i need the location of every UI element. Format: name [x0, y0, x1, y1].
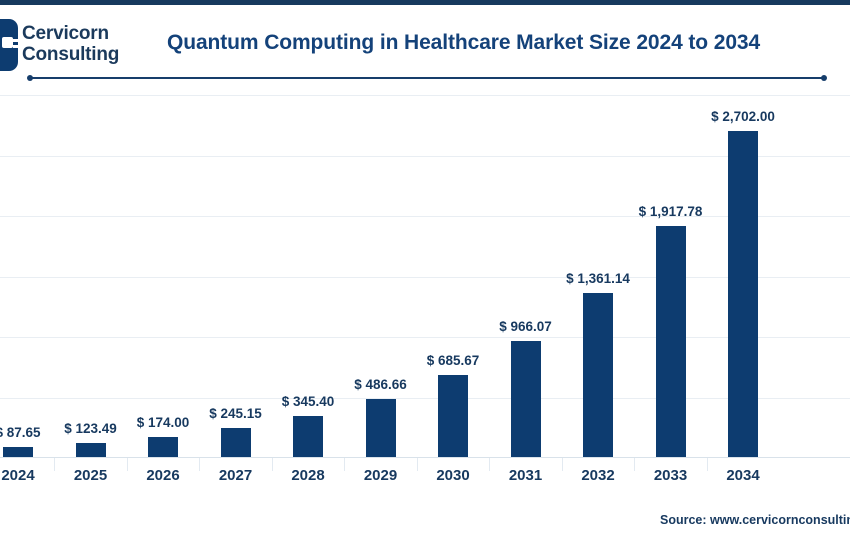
bar-2025[interactable]: [76, 443, 106, 458]
x-axis-label-2029: 2029: [364, 467, 397, 484]
x-axis-label-2026: 2026: [146, 467, 179, 484]
bar-value-label-2025: $ 123.49: [64, 421, 117, 436]
bar-2033[interactable]: [656, 226, 686, 458]
bar-value-label-2027: $ 245.15: [209, 406, 262, 421]
x-axis-tick-separator: [562, 458, 563, 471]
bar-2029[interactable]: [366, 399, 396, 458]
bar-value-label-2034: $ 2,702.00: [711, 109, 775, 124]
bar-2032[interactable]: [583, 293, 613, 458]
bar-value-label-2032: $ 1,361.14: [566, 271, 630, 286]
x-axis: 2024202520262027202820292030203120322033…: [0, 458, 850, 498]
bar-2027[interactable]: [221, 428, 251, 458]
gridline: [0, 95, 850, 96]
logo-chip-shape: [2, 37, 13, 48]
bar-value-label-2031: $ 966.07: [499, 319, 552, 334]
x-axis-label-2033: 2033: [654, 467, 687, 484]
x-axis-tick-separator: [199, 458, 200, 471]
x-axis-label-2024: 2024: [1, 467, 34, 484]
bar-2028[interactable]: [293, 416, 323, 458]
brand-name-line1: Cervicorn: [22, 23, 119, 44]
bar-chart-plot-area: $ 87.65$ 123.49$ 174.00$ 245.15$ 345.40$…: [0, 95, 850, 458]
bar-2034[interactable]: [728, 131, 758, 458]
bar-value-label-2033: $ 1,917.78: [639, 204, 703, 219]
x-axis-tick-separator: [127, 458, 128, 471]
x-axis-label-2034: 2034: [726, 467, 759, 484]
x-axis-label-2027: 2027: [219, 467, 252, 484]
bar-2026[interactable]: [148, 437, 178, 458]
x-axis-label-2031: 2031: [509, 467, 542, 484]
bar-value-label-2028: $ 345.40: [282, 394, 335, 409]
bar-2031[interactable]: [511, 341, 541, 458]
page-title: Quantum Computing in Healthcare Market S…: [167, 31, 760, 55]
gridline: [0, 156, 850, 157]
brand-name-line2: Consulting: [22, 44, 119, 65]
x-axis-tick-separator: [417, 458, 418, 471]
gridline: [0, 398, 850, 399]
logo-pin-top-shape: [13, 39, 18, 42]
gridline: [0, 337, 850, 338]
x-axis-label-2025: 2025: [74, 467, 107, 484]
bar-value-label-2029: $ 486.66: [354, 377, 407, 392]
x-axis-label-2028: 2028: [291, 467, 324, 484]
bar-value-label-2026: $ 174.00: [137, 415, 190, 430]
bar-2030[interactable]: [438, 375, 468, 458]
bar-value-label-2024: $ 87.65: [0, 425, 41, 440]
divider-dot-right: [821, 75, 827, 81]
divider-dot-left: [27, 75, 33, 81]
gridline: [0, 277, 850, 278]
cervicorn-logo-mark-icon: [0, 19, 18, 71]
source-note: Source: www.cervicornconsulting.com: [660, 513, 850, 527]
chart-header: Cervicorn Consulting Quantum Computing i…: [0, 5, 850, 73]
header-divider: [30, 77, 824, 79]
x-axis-label-2032: 2032: [581, 467, 614, 484]
x-axis-tick-separator: [272, 458, 273, 471]
gridline: [0, 216, 850, 217]
x-axis-label-2030: 2030: [436, 467, 469, 484]
brand-name: Cervicorn Consulting: [22, 23, 119, 66]
x-axis-tick-separator: [634, 458, 635, 471]
logo-pin-bottom-shape: [13, 45, 18, 48]
x-axis-tick-separator: [489, 458, 490, 471]
x-axis-tick-separator: [344, 458, 345, 471]
x-axis-tick-separator: [707, 458, 708, 471]
bar-value-label-2030: $ 685.67: [427, 353, 480, 368]
x-axis-tick-separator: [54, 458, 55, 471]
